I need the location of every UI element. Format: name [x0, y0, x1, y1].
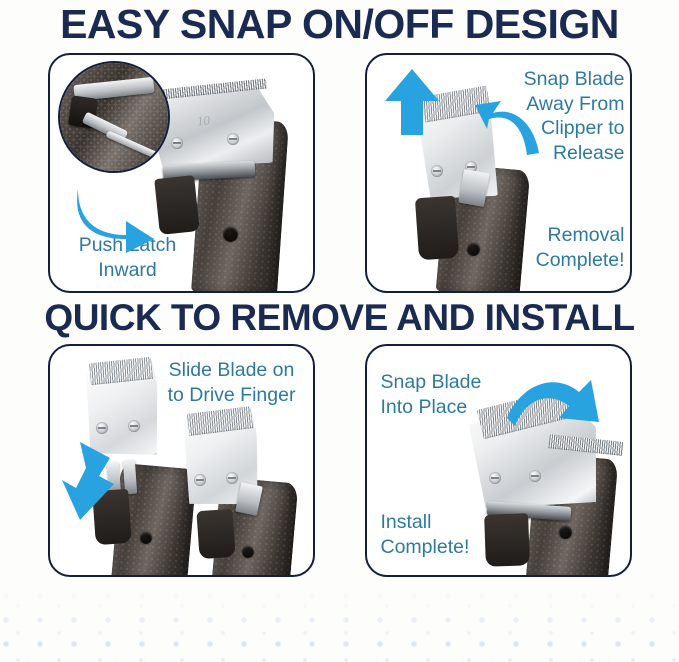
blade-marking-10: 10 [196, 112, 211, 129]
clipper-latch-arm-open [414, 196, 458, 261]
clipper-latch-arm [196, 509, 235, 559]
clipper-body-hole [223, 227, 238, 242]
blade-screw-left [431, 165, 443, 177]
arrow-slide-down [60, 442, 118, 520]
decorative-dot-pattern [0, 590, 679, 662]
caption-slide-blade: Slide Blade on to Drive Finger [154, 358, 310, 407]
arrow-snap-into-place [507, 378, 599, 442]
clipper-latch-arm [154, 175, 200, 235]
arrow-lift-up [385, 69, 439, 135]
blade-screw-right [227, 133, 239, 145]
clipper-body-hole [467, 243, 480, 256]
panel-row-bottom: Slide Blade on to Drive Finger Snap Blad… [0, 336, 679, 577]
blade-screw-right [529, 470, 541, 482]
caption-install-complete: Install Complete! [381, 510, 521, 559]
panel-slide-blade: Slide Blade on to Drive Finger [48, 344, 315, 577]
caption-snap-into-place: Snap Blade Into Place [381, 370, 517, 419]
arrow-snap-away [475, 99, 545, 157]
primary-heading: EASY SNAP ON/OFF DESIGN [0, 0, 679, 45]
blade-screw-right [226, 472, 238, 484]
panel-row-top: 10 Push Latch Inward [0, 45, 679, 293]
blade-screw-right [128, 420, 140, 432]
clipper-drive-finger [458, 169, 490, 207]
caption-removal-complete: Removal Complete! [487, 223, 625, 272]
clipper-illustration-step3-right [168, 408, 300, 577]
clipper-body-hole [242, 546, 254, 558]
magnifier-inset-latch-detail [58, 61, 170, 173]
blade-screw-left [96, 422, 108, 434]
panel-snap-into-place: Snap Blade Into Place Install Complete! [365, 344, 632, 577]
blade-screw-left [171, 137, 183, 149]
secondary-heading: QUICK TO REMOVE AND INSTALL [0, 293, 679, 336]
panel-snap-away: Snap Blade Away From Clipper to Release … [365, 53, 632, 293]
blade-screw-left [489, 472, 501, 484]
clipper-body-hole [559, 526, 572, 539]
clipper-body-hole [140, 532, 152, 544]
panel-push-latch: 10 Push Latch Inward [48, 53, 315, 293]
arrow-push-latch [72, 179, 158, 253]
blade-screw-left [194, 474, 206, 486]
